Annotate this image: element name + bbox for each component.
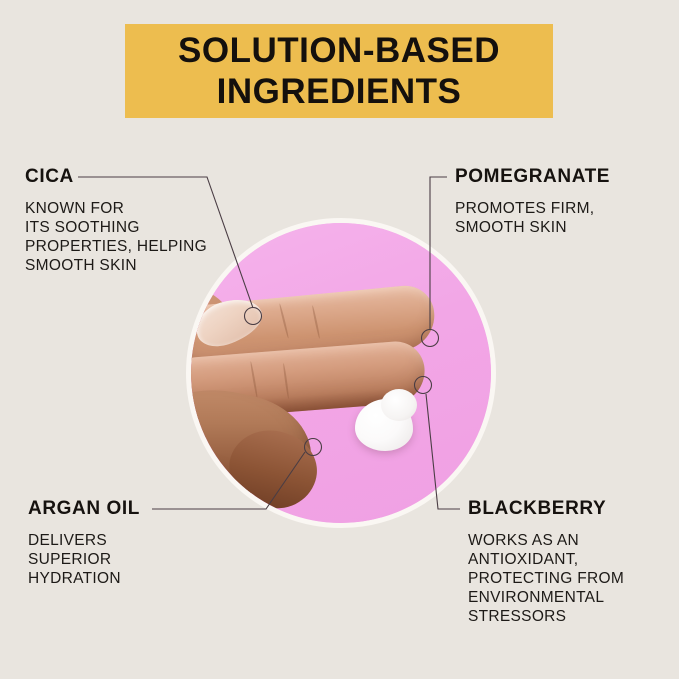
hand-illustration <box>191 281 463 511</box>
product-image <box>191 223 491 523</box>
callout-body-argan-oil: DELIVERS SUPERIOR HYDRATION <box>28 531 140 588</box>
page-title-line-2: INGREDIENTS <box>217 71 462 112</box>
cream-dollop-lobe <box>381 389 417 421</box>
title-banner: SOLUTION-BASED INGREDIENTS <box>125 24 553 118</box>
ingredients-infographic: SOLUTION-BASED INGREDIENTS <box>0 0 679 679</box>
product-image-circle <box>186 218 496 528</box>
callout-title-cica: CICA <box>25 166 207 188</box>
callout-title-blackberry: BLACKBERRY <box>468 498 624 520</box>
callout-body-cica: KNOWN FOR ITS SOOTHING PROPERTIES, HELPI… <box>25 199 207 275</box>
page-title-line-1: SOLUTION-BASED <box>178 30 500 71</box>
callout-title-argan-oil: ARGAN OIL <box>28 498 140 520</box>
callout-body-blackberry: WORKS AS AN ANTIOXIDANT, PROTECTING FROM… <box>468 531 624 626</box>
callout-pomegranate: POMEGRANATE PROMOTES FIRM, SMOOTH SKIN <box>455 166 610 237</box>
callout-argan-oil: ARGAN OIL DELIVERS SUPERIOR HYDRATION <box>28 498 140 588</box>
callout-cica: CICA KNOWN FOR ITS SOOTHING PROPERTIES, … <box>25 166 207 275</box>
callout-body-pomegranate: PROMOTES FIRM, SMOOTH SKIN <box>455 199 610 237</box>
callout-title-pomegranate: POMEGRANATE <box>455 166 610 188</box>
callout-blackberry: BLACKBERRY WORKS AS AN ANTIOXIDANT, PROT… <box>468 498 624 626</box>
